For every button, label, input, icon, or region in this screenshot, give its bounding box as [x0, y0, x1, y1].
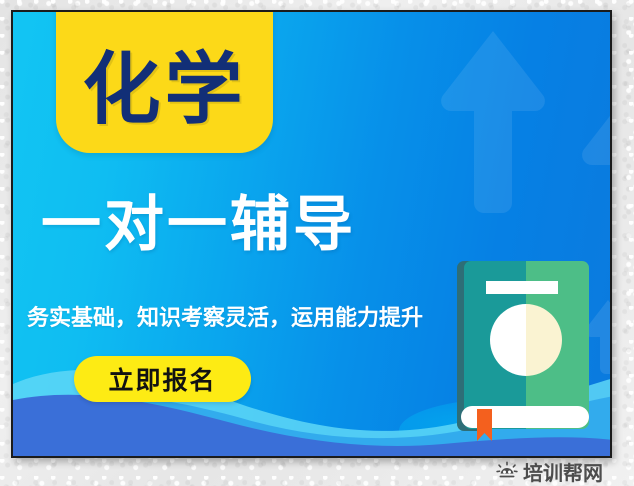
subject-badge-label: 化学 — [82, 51, 246, 153]
up-arrow-icon-partial — [579, 82, 612, 267]
promo-poster-card: 化学 一对一辅导 务实基础，知识考察灵活，运用能力提升 立即报名 — [11, 10, 612, 458]
up-arrow-icon — [438, 28, 548, 213]
poster-subtitle: 务实基础，知识考察灵活，运用能力提升 — [27, 300, 423, 332]
poster-headline: 一对一辅导 — [41, 195, 356, 255]
book-illustration-icon — [457, 259, 596, 444]
enroll-now-button[interactable]: 立即报名 — [74, 356, 251, 402]
watermark: 培训帮网 — [496, 457, 603, 486]
sun-face-icon — [496, 461, 518, 483]
watermark-label: 培训帮网 — [523, 457, 603, 486]
subject-badge: 化学 — [56, 10, 273, 153]
